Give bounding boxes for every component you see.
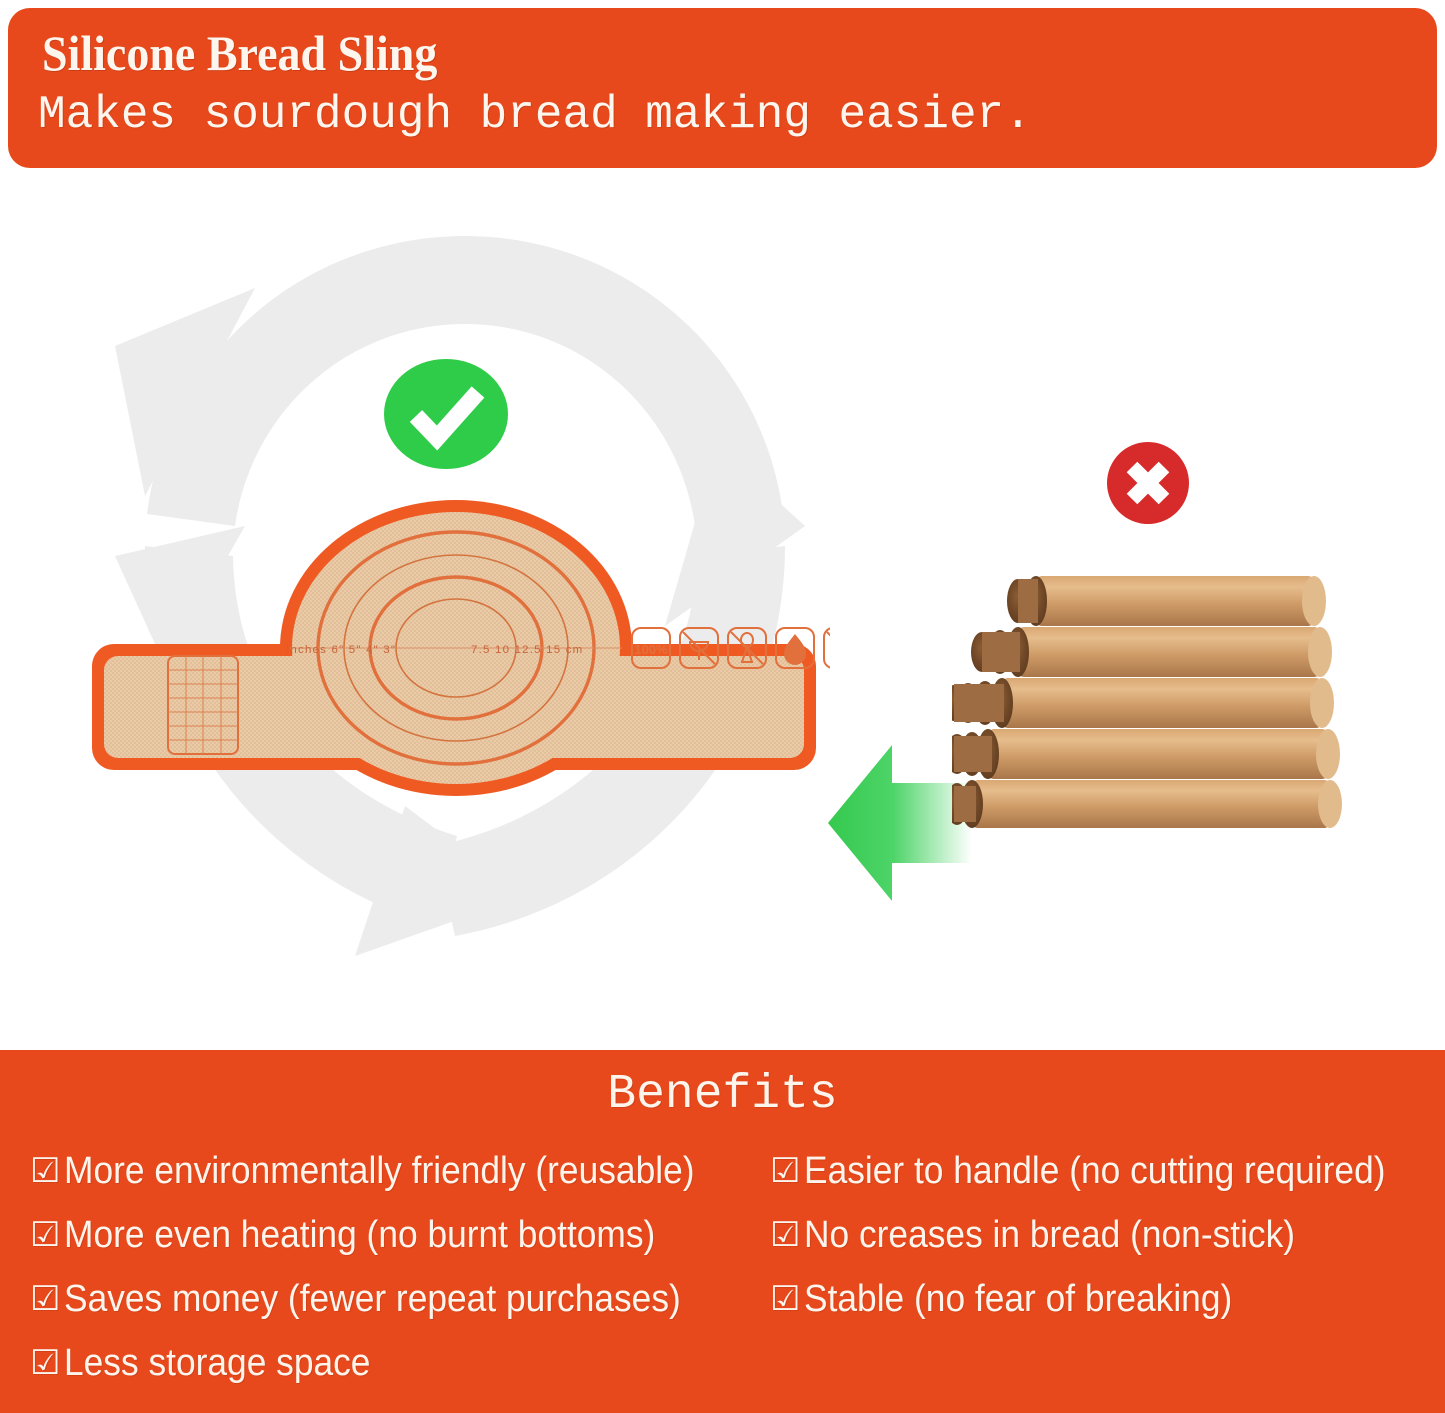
benefit-item: ☑ Easier to handle (no cutting required) <box>770 1142 1445 1200</box>
benefits-right-column: ☑ Easier to handle (no cutting required)… <box>770 1142 1445 1398</box>
benefit-label: More even heating (no burnt bottoms) <box>64 1206 655 1264</box>
benefits-title: Benefits <box>0 1050 1445 1124</box>
benefit-label: More environmentally friendly (reusable) <box>64 1142 694 1200</box>
benefits-grid: ☑ More environmentally friendly (reusabl… <box>0 1142 1445 1398</box>
svg-text:100%: 100% <box>634 642 668 657</box>
checkbox-checked-icon: ☑ <box>30 1206 64 1264</box>
silicone-bread-sling-mat: 100% <box>78 498 830 798</box>
benefit-item: ☑ More even heating (no burnt bottoms) <box>30 1206 770 1264</box>
roll-row-3 <box>952 678 1334 728</box>
page-subtitle: Makes sourdough bread making easier. <box>38 86 1437 144</box>
benefit-item: ☑ Saves money (fewer repeat purchases) <box>30 1270 770 1328</box>
benefit-item: ☑ Less storage space <box>30 1334 770 1392</box>
benefit-item: ☑ Stable (no fear of breaking) <box>770 1270 1445 1328</box>
checkbox-checked-icon: ☑ <box>770 1206 804 1264</box>
no-cutting-knife-icon <box>824 628 830 668</box>
benefit-label: Stable (no fear of breaking) <box>804 1270 1232 1328</box>
comparison-stage: 100% <box>0 168 1445 1050</box>
benefit-label: Easier to handle (no cutting required) <box>804 1142 1385 1200</box>
parchment-paper-rolls <box>952 554 1368 830</box>
check-circle-icon <box>382 358 510 470</box>
checkbox-checked-icon: ☑ <box>30 1142 64 1200</box>
roll-row-1 <box>1007 576 1326 626</box>
header-banner: Silicone Bread Sling Makes sourdough bre… <box>8 8 1437 168</box>
page-title: Silicone Bread Sling <box>42 22 1325 84</box>
checkbox-checked-icon: ☑ <box>770 1142 804 1200</box>
checkbox-checked-icon: ☑ <box>770 1270 804 1328</box>
benefit-item: ☑ More environmentally friendly (reusabl… <box>30 1142 770 1200</box>
checkbox-checked-icon: ☑ <box>30 1270 64 1328</box>
benefit-item: ☑ No creases in bread (non-stick) <box>770 1206 1445 1264</box>
roll-row-4 <box>952 729 1340 779</box>
roll-row-2 <box>971 627 1332 677</box>
checkbox-checked-icon: ☑ <box>30 1334 64 1392</box>
roll-row-5 <box>952 780 1342 828</box>
benefit-label: Less storage space <box>64 1334 370 1392</box>
x-circle-icon <box>1105 440 1191 526</box>
benefit-label: Saves money (fewer repeat purchases) <box>64 1270 681 1328</box>
benefits-left-column: ☑ More environmentally friendly (reusabl… <box>0 1142 770 1398</box>
benefits-banner: Benefits ☑ More environmentally friendly… <box>0 1050 1445 1413</box>
benefit-label: No creases in bread (non-stick) <box>804 1206 1295 1264</box>
